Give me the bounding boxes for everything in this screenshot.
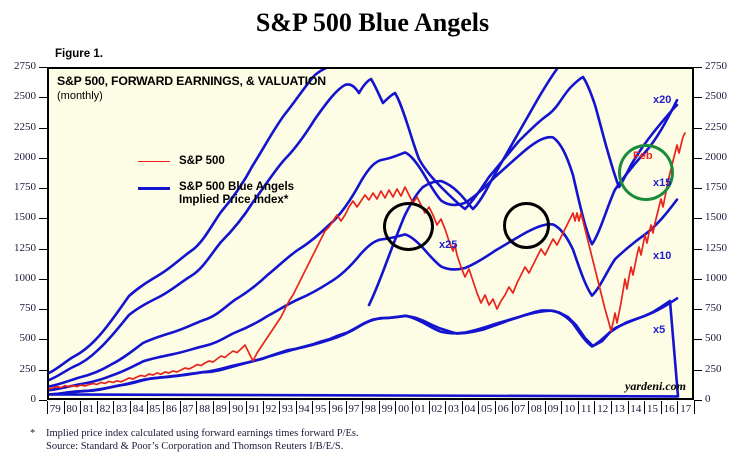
chart-canvas: S&P 500, FORWARD EARNINGS, & VALUATION (…	[49, 69, 692, 398]
y-axis-right-tick-label: 250	[705, 363, 722, 375]
y-axis-right-tick-mark	[694, 128, 702, 129]
x-axis-tick-mark	[545, 401, 546, 414]
series-label-x10: x10	[653, 250, 671, 262]
x-axis-tick-mark	[64, 401, 65, 414]
legend-item-sp500: S&P 500	[138, 155, 294, 168]
x-axis-tick-mark	[528, 401, 529, 414]
x-axis-tick-mark	[329, 401, 330, 414]
x-axis-tick-mark	[478, 401, 479, 414]
series-label-x25: x25	[439, 239, 457, 251]
series-label-x5: x5	[653, 324, 665, 336]
x-axis-tick-mark	[412, 401, 413, 414]
y-axis-left-tick-label: 2000	[0, 151, 36, 163]
y-axis-left-tick-mark	[39, 128, 47, 129]
series-line-x10	[49, 200, 677, 391]
y-axis-right-tick-mark	[694, 309, 702, 310]
chart-subheading: (monthly)	[57, 90, 103, 102]
x-axis-tick-mark	[445, 401, 446, 414]
y-axis-left-tick-label: 1750	[0, 181, 36, 193]
x-axis-tick-mark	[147, 401, 148, 414]
y-axis-right-tick-mark	[694, 249, 702, 250]
y-axis-right-tick-mark	[694, 400, 702, 401]
series-line-x25	[49, 69, 333, 373]
y-axis-left-tick-label: 2750	[0, 60, 36, 72]
y-axis-left-tick-mark	[39, 370, 47, 371]
annotation-circle-2007	[503, 202, 550, 249]
legend-swatch-blue-angels	[138, 187, 170, 190]
y-axis-left-tick-label: 1500	[0, 211, 36, 223]
x-axis-tick-mark	[594, 401, 595, 414]
series-line-x5-clean	[49, 298, 677, 394]
annotation-circle-2000	[383, 202, 434, 251]
x-axis-tick-mark	[279, 401, 280, 414]
page-title: S&P 500 Blue Angels	[0, 8, 745, 38]
y-axis-right-tick-mark	[694, 218, 702, 219]
x-axis-tick-mark	[561, 401, 562, 414]
x-axis-tick-mark	[346, 401, 347, 414]
legend-label-sp500: S&P 500	[179, 155, 225, 168]
footnote-text-1: Implied price index calculated using for…	[46, 428, 359, 441]
footnote-spacer	[30, 441, 46, 454]
footnote-row-1: * Implied price index calculated using f…	[30, 428, 359, 441]
x-axis-tick-mark	[395, 401, 396, 414]
y-axis-left-tick-label: 2250	[0, 121, 36, 133]
y-axis-right-tick-mark	[694, 97, 702, 98]
y-axis-right-tick-mark	[694, 158, 702, 159]
footnote-row-2: Source: Standard & Poor’s Corporation an…	[30, 441, 359, 454]
y-axis-left-tick-mark	[39, 309, 47, 310]
x-axis-tick-mark	[677, 401, 678, 414]
y-axis-right-tick-label: 1250	[705, 242, 727, 254]
y-axis-left-tick-mark	[39, 400, 47, 401]
legend-label-blue-angels: S&P 500 Blue Angels Implied Price Index*	[179, 181, 294, 207]
x-axis-tick-mark	[312, 401, 313, 414]
y-axis-right-tick-mark	[694, 188, 702, 189]
x-axis-tick-mark	[495, 401, 496, 414]
x-axis-tick-mark	[362, 401, 363, 414]
x-axis-tick-mark	[97, 401, 98, 414]
chart-plot-area: S&P 500, FORWARD EARNINGS, & VALUATION (…	[47, 67, 694, 400]
y-axis-right-tick-label: 750	[705, 302, 722, 314]
y-axis-right-tick-label: 2250	[705, 121, 727, 133]
y-axis-left-tick-mark	[39, 188, 47, 189]
x-axis-tick-mark	[130, 401, 131, 414]
y-axis-left-tick-mark	[39, 158, 47, 159]
x-axis-tick-mark	[196, 401, 197, 414]
y-axis-left-tick-label: 2500	[0, 90, 36, 102]
x-axis-tick-mark	[628, 401, 629, 414]
x-axis-tick-mark	[694, 401, 695, 414]
y-axis-right-tick-mark	[694, 339, 702, 340]
x-axis-tick-mark	[661, 401, 662, 414]
feb-label: Feb	[633, 150, 653, 162]
series-line-x15	[49, 100, 677, 386]
footnote-text-2: Source: Standard & Poor’s Corporation an…	[46, 441, 343, 454]
y-axis-left-tick-mark	[39, 67, 47, 68]
chart-lines	[49, 69, 692, 398]
y-axis-left-tick-mark	[39, 218, 47, 219]
y-axis-left-tick-label: 1000	[0, 272, 36, 284]
x-axis-tick-mark	[180, 401, 181, 414]
legend-label-blue-angels-line1: S&P 500 Blue Angels	[179, 181, 294, 194]
series-label-x20: x20	[653, 94, 671, 106]
x-axis-tick-mark	[296, 401, 297, 414]
x-axis-tick-mark	[462, 401, 463, 414]
x-axis-tick-mark	[644, 401, 645, 414]
y-axis-right-tick-label: 1000	[705, 272, 727, 284]
y-axis-right-tick-mark	[694, 279, 702, 280]
y-axis-left-tick-mark	[39, 339, 47, 340]
footnote-bullet: *	[30, 428, 46, 441]
y-axis-right-tick-label: 500	[705, 332, 722, 344]
y-axis-left-tick-label: 250	[0, 363, 36, 375]
y-axis-right-tick-label: 1750	[705, 181, 727, 193]
y-axis-right-tick-label: 0	[705, 393, 711, 405]
y-axis-left-tick-mark	[39, 97, 47, 98]
y-axis-left-tick-mark	[39, 279, 47, 280]
legend-label-blue-angels-line2: Implied Price Index*	[179, 194, 294, 207]
y-axis-left-tick-mark	[39, 249, 47, 250]
x-axis-tick-mark	[578, 401, 579, 414]
y-axis-right-tick-label: 1500	[705, 211, 727, 223]
watermark: yardeni.com	[625, 379, 686, 394]
x-axis-tick-mark	[263, 401, 264, 414]
legend-swatch-sp500	[138, 161, 170, 162]
chart-legend: S&P 500 S&P 500 Blue Angels Implied Pric…	[138, 155, 294, 220]
y-axis-left-tick-label: 750	[0, 302, 36, 314]
series-label-x15: x15	[653, 177, 671, 189]
x-axis-tick-mark	[429, 401, 430, 414]
legend-item-blue-angels: S&P 500 Blue Angels Implied Price Index*	[138, 181, 294, 207]
x-axis-tick-mark	[213, 401, 214, 414]
y-axis-left-tick-label: 1250	[0, 242, 36, 254]
x-axis-tick-mark	[80, 401, 81, 414]
x-axis-tick-mark	[113, 401, 114, 414]
series-line-x5	[49, 301, 678, 396]
x-axis-tick-mark	[246, 401, 247, 414]
y-axis-right-tick-mark	[694, 370, 702, 371]
y-axis-right-tick-label: 2750	[705, 60, 727, 72]
figure-label: Figure 1.	[55, 48, 103, 60]
y-axis-right-tick-label: 2500	[705, 90, 727, 102]
y-axis-left-tick-label: 500	[0, 332, 36, 344]
y-axis-left-tick-label: 0	[0, 393, 36, 405]
footnotes: * Implied price index calculated using f…	[30, 428, 359, 453]
x-axis-tick-mark	[512, 401, 513, 414]
x-axis-tick-mark	[611, 401, 612, 414]
x-axis-tick-mark	[163, 401, 164, 414]
y-axis-right-tick-label: 2000	[705, 151, 727, 163]
y-axis-right-tick-mark	[694, 67, 702, 68]
x-axis-tick-mark	[379, 401, 380, 414]
x-axis-tick-mark	[229, 401, 230, 414]
chart-heading: S&P 500, FORWARD EARNINGS, & VALUATION	[57, 74, 326, 88]
x-axis-tick-mark	[47, 401, 48, 414]
